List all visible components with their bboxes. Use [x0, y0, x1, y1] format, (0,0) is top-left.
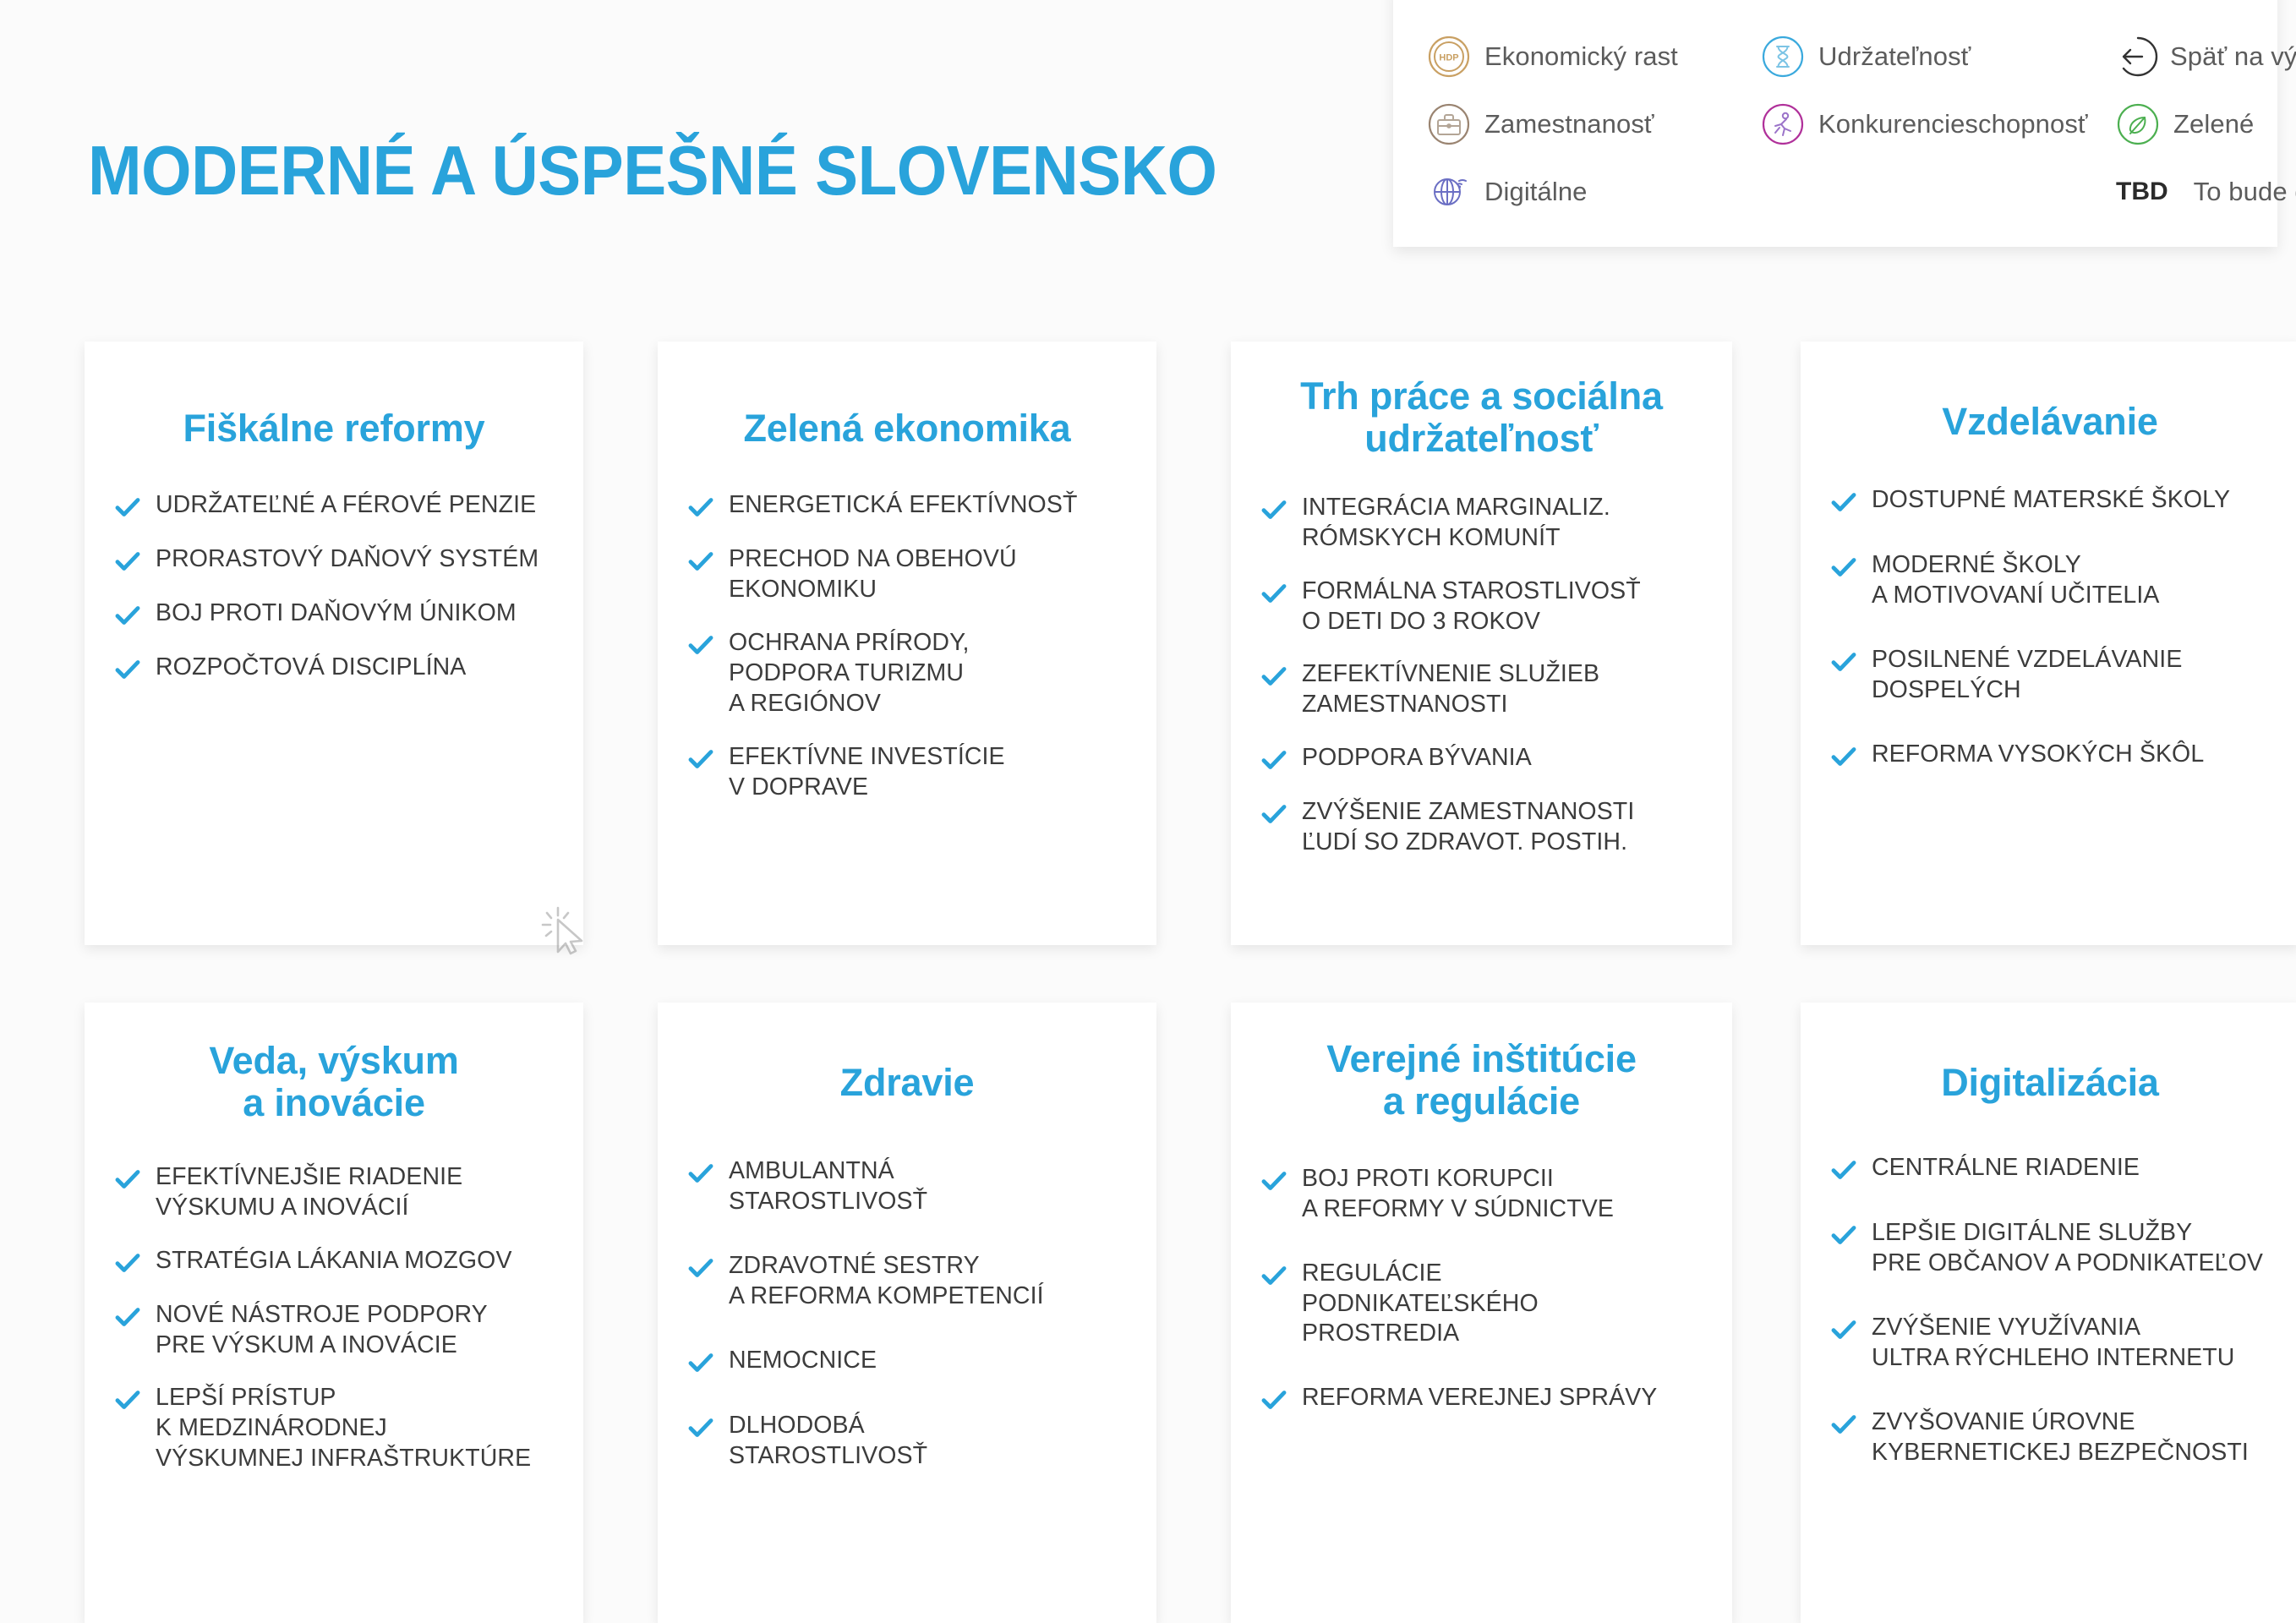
- check-icon: [686, 1348, 715, 1377]
- check-icon: [1829, 488, 1858, 516]
- list-item: DLHODOBÁ STAROSTLIVOSŤ: [686, 1411, 1128, 1472]
- list-item: ZDRAVOTNÉ SESTRY A REFORMA KOMPETENCIÍ: [686, 1251, 1128, 1312]
- hourglass-icon: [1761, 35, 1805, 79]
- check-icon: [1829, 1221, 1858, 1249]
- list-item: FORMÁLNA STAROSTLIVOSŤ O DETI DO 3 ROKOV: [1260, 577, 1703, 637]
- list-item: ZVÝŠENIE ZAMESTNANOSTI ĽUDÍ SO ZDRAVOT. …: [1260, 797, 1703, 858]
- leaf-icon: [2116, 102, 2160, 146]
- list-item: DOSTUPNÉ MATERSKÉ ŠKOLY: [1829, 485, 2271, 516]
- bullet-text: OCHRANA PRÍRODY, PODPORA TURIZMU A REGIÓ…: [729, 628, 970, 719]
- runner-icon: [1761, 102, 1805, 146]
- card-zdravie[interactable]: Zdravie AMBULANTNÁ STAROSTLIVOSŤ ZDRAVOT…: [658, 1003, 1156, 1623]
- bullet-text: REFORMA VEREJNEJ SPRÁVY: [1302, 1383, 1657, 1413]
- check-icon: [1260, 662, 1288, 691]
- list-item: ROZPOČTOVÁ DISCIPLÍNA: [113, 653, 555, 684]
- check-icon: [1260, 579, 1288, 608]
- bullet-text: DOSTUPNÉ MATERSKÉ ŠKOLY: [1872, 485, 2230, 516]
- list-item: NEMOCNICE: [686, 1346, 1128, 1377]
- list-item: ZVÝŠENIE VYUŽÍVANIA ULTRA RÝCHLEHO INTER…: [1829, 1313, 2271, 1374]
- bullet-text: POSILNENÉ VZDELÁVANIE DOSPELÝCH: [1872, 645, 2182, 706]
- list-item: PRECHOD NA OBEHOVÚ EKONOMIKU: [686, 544, 1128, 605]
- card-title: Fiškálne reformy: [113, 407, 555, 450]
- card-bullet-list: AMBULANTNÁ STAROSTLIVOSŤ ZDRAVOTNÉ SESTR…: [686, 1156, 1128, 1471]
- check-icon: [1260, 1385, 1288, 1414]
- list-item: LEPŠÍ PRÍSTUP K MEDZINÁRODNEJ VÝSKUMNEJ …: [113, 1383, 555, 1474]
- list-item: STRATÉGIA LÁKANIA MOZGOV: [113, 1246, 555, 1277]
- check-icon: [1260, 1261, 1288, 1290]
- check-icon: [686, 1159, 715, 1188]
- bullet-text: EFEKTÍVNE INVESTÍCIE V DOPRAVE: [729, 742, 1005, 803]
- list-item: POSILNENÉ VZDELÁVANIE DOSPELÝCH: [1829, 645, 2271, 706]
- list-item: PODPORA BÝVANIA: [1260, 743, 1703, 774]
- bullet-text: BOJ PROTI KORUPCII A REFORMY V SÚDNICTVE: [1302, 1164, 1614, 1225]
- list-item: INTEGRÁCIA MARGINALIZ. RÓMSKYCH KOMUNÍT: [1260, 493, 1703, 554]
- legend-item-back-to-selection[interactable]: Späť na výber: [2116, 35, 2296, 79]
- legend-item-zamestnanost[interactable]: Zamestnanosť: [1427, 102, 1761, 146]
- card-title: Trh práce a sociálna udržateľnosť: [1260, 375, 1703, 461]
- check-icon: [113, 601, 142, 630]
- svg-text:HDP: HDP: [1439, 53, 1458, 63]
- check-icon: [686, 493, 715, 522]
- card-bullet-list: ENERGETICKÁ EFEKTÍVNOSŤ PRECHOD NA OBEHO…: [686, 490, 1128, 802]
- check-icon: [686, 1254, 715, 1282]
- bullet-text: STRATÉGIA LÁKANIA MOZGOV: [156, 1246, 512, 1276]
- bullet-text: LEPŠIE DIGITÁLNE SLUŽBY PRE OBČANOV A PO…: [1872, 1218, 2263, 1279]
- legend-label: Späť na výber: [2170, 41, 2296, 72]
- list-item: CENTRÁLNE RIADENIE: [1829, 1153, 2271, 1184]
- list-item: REFORMA VYSOKÝCH ŠKÔL: [1829, 740, 2271, 771]
- bullet-text: EFEKTÍVNEJŠIE RIADENIE VÝSKUMU A INOVÁCI…: [156, 1162, 462, 1223]
- list-item: NOVÉ NÁSTROJE PODPORY PRE VÝSKUM A INOVÁ…: [113, 1300, 555, 1361]
- tbd-badge: TBD: [2116, 178, 2168, 206]
- card-bullet-list: BOJ PROTI KORUPCII A REFORMY V SÚDNICTVE…: [1260, 1164, 1703, 1415]
- bullet-text: REGULÁCIE PODNIKATEĽSKÉHO PROSTREDIA: [1302, 1259, 1539, 1350]
- list-item: OCHRANA PRÍRODY, PODPORA TURIZMU A REGIÓ…: [686, 628, 1128, 719]
- card-bullet-list: INTEGRÁCIA MARGINALIZ. RÓMSKYCH KOMUNÍT …: [1260, 493, 1703, 858]
- back-arrow-icon: [2116, 35, 2160, 79]
- bullet-text: ZVYŠOVANIE ÚROVNE KYBERNETICKEJ BEZPEČNO…: [1872, 1407, 2249, 1468]
- check-icon: [1260, 800, 1288, 828]
- check-icon: [113, 1303, 142, 1331]
- list-item: LEPŠIE DIGITÁLNE SLUŽBY PRE OBČANOV A PO…: [1829, 1218, 2271, 1279]
- legend-label: Konkurencieschopnosť: [1818, 109, 2088, 139]
- legend-label: To bude doplnené: [2194, 177, 2296, 207]
- card-zelena-ekonomika[interactable]: Zelená ekonomika ENERGETICKÁ EFEKTÍVNOSŤ…: [658, 342, 1156, 945]
- legend-item-konkurencieschopnost[interactable]: Konkurencieschopnosť: [1761, 102, 2116, 146]
- mouse-cursor-icon: [539, 903, 597, 960]
- card-bullet-list: CENTRÁLNE RIADENIE LEPŠIE DIGITÁLNE SLUŽ…: [1829, 1153, 2271, 1467]
- hdp-coin-icon: HDP: [1427, 35, 1471, 79]
- check-icon: [1260, 495, 1288, 524]
- list-item: BOJ PROTI KORUPCII A REFORMY V SÚDNICTVE: [1260, 1164, 1703, 1225]
- check-icon: [686, 547, 715, 576]
- page-title: MODERNÉ A ÚSPEŠNÉ SLOVENSKO: [88, 135, 1216, 205]
- card-bullet-list: UDRŽATEĽNÉ A FÉROVÉ PENZIE PRORASTOVÝ DA…: [113, 490, 555, 684]
- check-icon: [1829, 1410, 1858, 1439]
- bullet-text: ZVÝŠENIE ZAMESTNANOSTI ĽUDÍ SO ZDRAVOT. …: [1302, 797, 1634, 858]
- bullet-text: DLHODOBÁ STAROSTLIVOSŤ: [729, 1411, 927, 1472]
- card-title: Vzdelávanie: [1829, 401, 2271, 443]
- bullet-text: FORMÁLNA STAROSTLIVOSŤ O DETI DO 3 ROKOV: [1302, 577, 1641, 637]
- bullet-text: NOVÉ NÁSTROJE PODPORY PRE VÝSKUM A INOVÁ…: [156, 1300, 488, 1361]
- card-title: Zdravie: [686, 1062, 1128, 1104]
- list-item: ZEFEKTÍVNENIE SLUŽIEB ZAMESTNANOSTI: [1260, 659, 1703, 720]
- list-item: AMBULANTNÁ STAROSTLIVOSŤ: [686, 1156, 1128, 1217]
- legend-item-digitalne[interactable]: Digitálne: [1427, 170, 1761, 214]
- legend-item-zelene[interactable]: Zelené: [2116, 102, 2296, 146]
- bullet-text: LEPŠÍ PRÍSTUP K MEDZINÁRODNEJ VÝSKUMNEJ …: [156, 1383, 531, 1474]
- check-icon: [1829, 1315, 1858, 1344]
- bullet-text: BOJ PROTI DAŇOVÝM ÚNIKOM: [156, 598, 517, 629]
- card-bullet-list: DOSTUPNÉ MATERSKÉ ŠKOLY MODERNÉ ŠKOLY A …: [1829, 485, 2271, 771]
- legend-panel: HDP Ekonomický rast Udržateľnosť Späť na…: [1393, 0, 2277, 247]
- card-veda-vyskum-a-inovacie[interactable]: Veda, výskum a inovácie EFEKTÍVNEJŠIE RI…: [85, 1003, 583, 1623]
- list-item: ZVYŠOVANIE ÚROVNE KYBERNETICKEJ BEZPEČNO…: [1829, 1407, 2271, 1468]
- card-fiskalne-reformy[interactable]: Fiškálne reformy UDRŽATEĽNÉ A FÉROVÉ PEN…: [85, 342, 583, 945]
- list-item: ENERGETICKÁ EFEKTÍVNOSŤ: [686, 490, 1128, 522]
- bullet-text: ZVÝŠENIE VYUŽÍVANIA ULTRA RÝCHLEHO INTER…: [1872, 1313, 2234, 1374]
- bullet-text: ZEFEKTÍVNENIE SLUŽIEB ZAMESTNANOSTI: [1302, 659, 1599, 720]
- card-title: Zelená ekonomika: [686, 407, 1128, 450]
- list-item: EFEKTÍVNE INVESTÍCIE V DOPRAVE: [686, 742, 1128, 803]
- legend-label: Udržateľnosť: [1818, 41, 1971, 72]
- list-item: UDRŽATEĽNÉ A FÉROVÉ PENZIE: [113, 490, 555, 522]
- check-icon: [113, 655, 142, 684]
- card-title: Digitalizácia: [1829, 1062, 2271, 1104]
- list-item: PRORASTOVÝ DAŇOVÝ SYSTÉM: [113, 544, 555, 576]
- bullet-text: PODPORA BÝVANIA: [1302, 743, 1532, 773]
- briefcase-icon: [1427, 102, 1471, 146]
- check-icon: [1260, 1167, 1288, 1195]
- card-vzdelavanie[interactable]: Vzdelávanie DOSTUPNÉ MATERSKÉ ŠKOLY MODE…: [1801, 342, 2296, 945]
- check-icon: [113, 1249, 142, 1277]
- bullet-text: CENTRÁLNE RIADENIE: [1872, 1153, 2140, 1183]
- check-icon: [1260, 746, 1288, 774]
- card-bullet-list: EFEKTÍVNEJŠIE RIADENIE VÝSKUMU A INOVÁCI…: [113, 1162, 555, 1474]
- legend-item-udrzatelnost[interactable]: Udržateľnosť: [1761, 35, 2116, 79]
- check-icon: [113, 1385, 142, 1414]
- list-item: BOJ PROTI DAŇOVÝM ÚNIKOM: [113, 598, 555, 630]
- check-icon: [1829, 1156, 1858, 1184]
- card-title: Veda, výskum a inovácie: [113, 1040, 555, 1125]
- card-trh-prace-a-socialna-udrzatelnost[interactable]: Trh práce a sociálna udržateľnosť INTEGR…: [1231, 342, 1732, 945]
- bullet-text: ZDRAVOTNÉ SESTRY A REFORMA KOMPETENCIÍ: [729, 1251, 1044, 1312]
- check-icon: [686, 631, 715, 659]
- bullet-text: NEMOCNICE: [729, 1346, 877, 1376]
- legend-label: Digitálne: [1484, 177, 1588, 207]
- check-icon: [113, 493, 142, 522]
- list-item: REGULÁCIE PODNIKATEĽSKÉHO PROSTREDIA: [1260, 1259, 1703, 1350]
- bullet-text: AMBULANTNÁ STAROSTLIVOSŤ: [729, 1156, 927, 1217]
- card-title: Verejné inštitúcie a regulácie: [1260, 1038, 1703, 1123]
- bullet-text: MODERNÉ ŠKOLY A MOTIVOVANÍ UČITELIA: [1872, 550, 2159, 611]
- check-icon: [113, 1165, 142, 1194]
- slide-canvas: HDP Ekonomický rast Udržateľnosť Späť na…: [0, 0, 2296, 1623]
- check-icon: [686, 745, 715, 773]
- list-item: MODERNÉ ŠKOLY A MOTIVOVANÍ UČITELIA: [1829, 550, 2271, 611]
- card-digitalizacia[interactable]: Digitalizácia CENTRÁLNE RIADENIE LEPŠIE …: [1801, 1003, 2296, 1623]
- check-icon: [1829, 648, 1858, 676]
- legend-label: Ekonomický rast: [1484, 41, 1678, 72]
- check-icon: [686, 1413, 715, 1442]
- check-icon: [1829, 742, 1858, 771]
- legend-item-tbd[interactable]: TBD To bude doplnené: [2116, 177, 2296, 207]
- check-icon: [1829, 553, 1858, 582]
- bullet-text: REFORMA VYSOKÝCH ŠKÔL: [1872, 740, 2204, 770]
- bullet-text: PRECHOD NA OBEHOVÚ EKONOMIKU: [729, 544, 1017, 605]
- bullet-text: ROZPOČTOVÁ DISCIPLÍNA: [156, 653, 466, 683]
- bullet-text: ENERGETICKÁ EFEKTÍVNOSŤ: [729, 490, 1077, 521]
- bullet-text: PRORASTOVÝ DAŇOVÝ SYSTÉM: [156, 544, 538, 575]
- list-item: EFEKTÍVNEJŠIE RIADENIE VÝSKUMU A INOVÁCI…: [113, 1162, 555, 1223]
- check-icon: [113, 547, 142, 576]
- legend-item-ekonomicky-rast[interactable]: HDP Ekonomický rast: [1427, 35, 1761, 79]
- list-item: REFORMA VEREJNEJ SPRÁVY: [1260, 1383, 1703, 1414]
- card-verejne-institucie-a-regulacie[interactable]: Verejné inštitúcie a regulácie BOJ PROTI…: [1231, 1003, 1732, 1623]
- legend-label: Zamestnanosť: [1484, 109, 1654, 139]
- bullet-text: INTEGRÁCIA MARGINALIZ. RÓMSKYCH KOMUNÍT: [1302, 493, 1610, 554]
- legend-label: Zelené: [2173, 109, 2254, 139]
- bullet-text: UDRŽATEĽNÉ A FÉROVÉ PENZIE: [156, 490, 536, 521]
- globe-wifi-icon: [1427, 170, 1471, 214]
